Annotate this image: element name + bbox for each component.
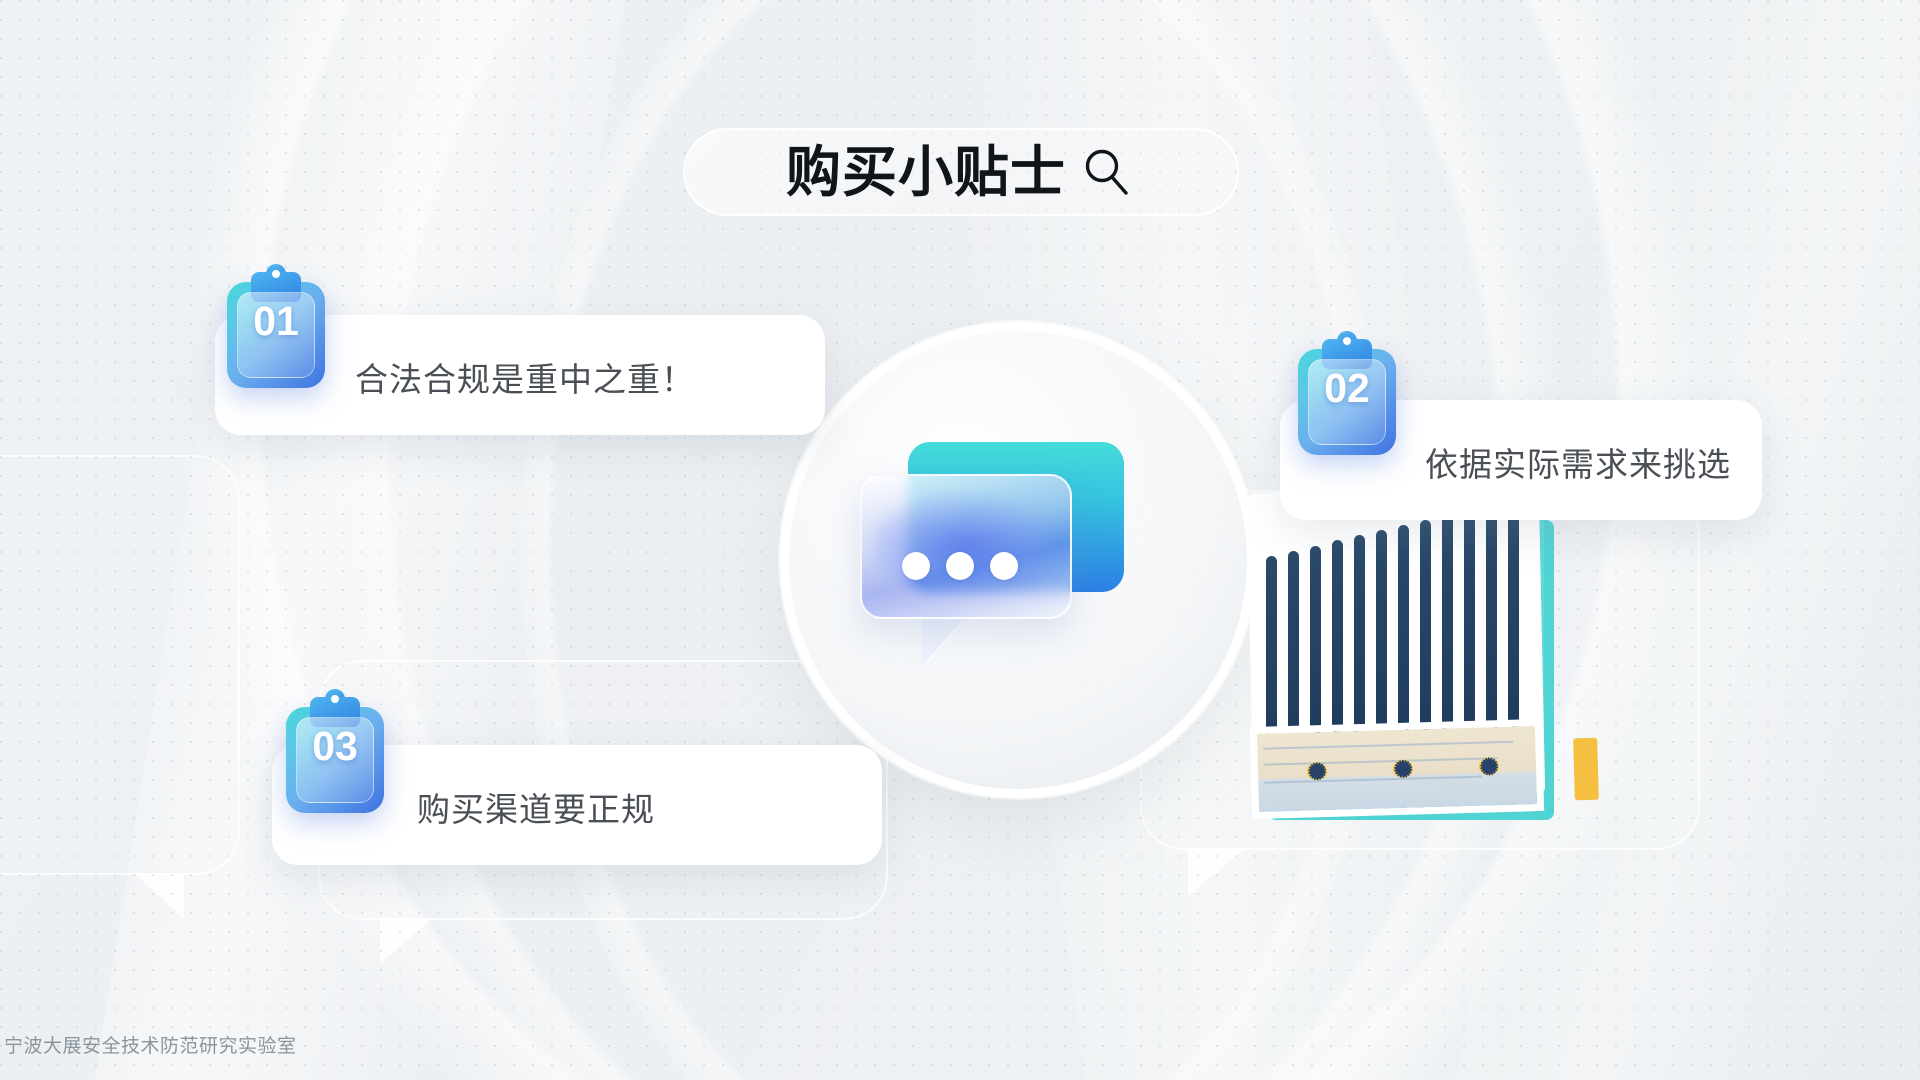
- chat-dot: [902, 552, 930, 580]
- fence-bar: [1486, 504, 1497, 752]
- tip-text: 依据实际需求来挑选: [1425, 438, 1731, 486]
- clipboard-icon: 02: [1298, 339, 1396, 455]
- chat-dot: [990, 552, 1018, 580]
- fence-bar: [1332, 540, 1343, 752]
- search-icon: [1078, 143, 1136, 201]
- clipboard-icon: 03: [286, 697, 384, 813]
- fence-bar: [1420, 520, 1431, 752]
- chat-bubble-tail: [922, 616, 966, 666]
- fence-bar: [1464, 509, 1475, 752]
- fence-sunburst-icon: [1293, 751, 1340, 792]
- ghost-speech-bubble-left: [0, 455, 240, 875]
- fence-bar: [1310, 546, 1321, 752]
- fence-bar: [1508, 499, 1519, 752]
- fence-bar: [1442, 514, 1453, 752]
- chat-dot: [946, 552, 974, 580]
- fence-barrier-illustration: [1250, 480, 1580, 860]
- fence-bar: [1376, 530, 1387, 752]
- tip-text: 购买渠道要正规: [417, 783, 655, 831]
- tip-number: 01: [227, 298, 325, 345]
- fence-base-panel: [1257, 726, 1537, 812]
- page-title: 购买小贴士: [786, 145, 1066, 200]
- clipboard-icon: 01: [227, 272, 325, 388]
- fence-bar: [1398, 525, 1409, 752]
- page-title-pill: 购买小贴士: [683, 128, 1239, 216]
- fence-yellow-tab: [1573, 738, 1599, 801]
- background-wedge-left: [94, 0, 625, 1080]
- fence-bar: [1266, 556, 1277, 752]
- chat-bubble-icon: [860, 442, 1140, 672]
- fence-bar: [1354, 535, 1365, 752]
- tip-number: 02: [1298, 365, 1396, 412]
- tip-text: 合法合规是重中之重！: [355, 353, 695, 401]
- fence-bars: [1262, 494, 1530, 752]
- fence-sunburst-icon: [1379, 748, 1426, 789]
- footer-organization: 宁波大展安全技术防范研究实验室: [4, 1031, 297, 1058]
- tip-number: 03: [286, 723, 384, 770]
- chat-bubble-front-glass: [860, 474, 1072, 619]
- fence-sunburst-icon: [1465, 746, 1512, 787]
- slide-stage: 购买小贴士 01 合法: [0, 0, 1920, 1080]
- fence-bar: [1288, 551, 1299, 752]
